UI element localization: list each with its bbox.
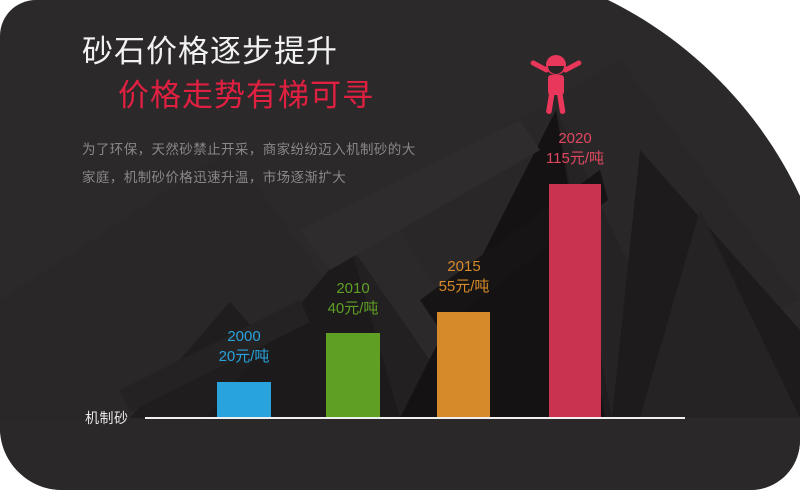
bar-2020[interactable] (549, 184, 601, 418)
bar-label-2010: 2010 40元/吨 (300, 279, 406, 319)
bar-value-2000: 20元/吨 (191, 347, 297, 367)
bar-value-2020: 115元/吨 (520, 149, 630, 169)
infographic-slide: 砂石价格逐步提升 价格走势有梯可寻 为了环保，天然砂禁止开采，商家纷纷迈入机制砂… (0, 0, 800, 490)
bar-year-2020: 2020 (520, 129, 630, 149)
axis-label: 机制砂 (85, 408, 129, 428)
bar-year-2015: 2015 (411, 257, 517, 277)
bar-label-2020: 2020 115元/吨 (520, 129, 630, 169)
bar-label-2015: 2015 55元/吨 (411, 257, 517, 297)
bar-year-2000: 2000 (191, 327, 297, 347)
bar-value-2010: 40元/吨 (300, 299, 406, 319)
bar-value-2015: 55元/吨 (411, 277, 517, 297)
bar-year-2010: 2010 (300, 279, 406, 299)
bar-chart: 2000 20元/吨 2010 40元/吨 2015 55元/吨 2020 11… (0, 0, 800, 490)
bar-label-2000: 2000 20元/吨 (191, 327, 297, 367)
axis-baseline (145, 417, 685, 419)
bar-2000[interactable] (217, 382, 271, 418)
bar-2015[interactable] (437, 312, 490, 418)
bar-2010[interactable] (326, 333, 380, 418)
